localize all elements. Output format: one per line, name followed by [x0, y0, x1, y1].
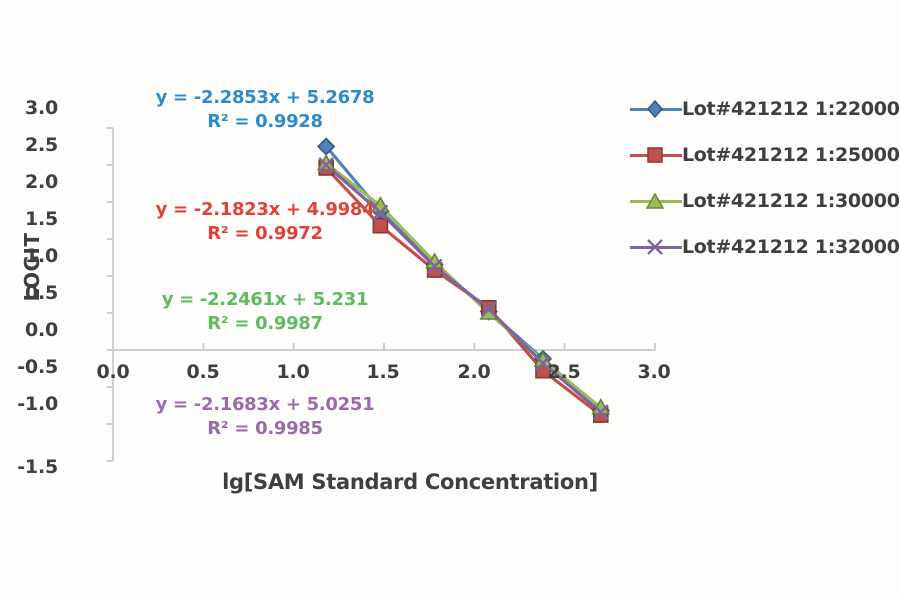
y-tick-label: -1.0 — [4, 393, 58, 415]
chart-figure: 3.0 2.5 2.0 1.5 1.0 0.5 0.0 -0.5 -1.0 -1… — [0, 0, 900, 594]
x-tick-label: 2.0 — [446, 361, 502, 383]
equation-text: y = -2.2461x + 5.231 — [162, 289, 368, 310]
equation-text: y = -2.1683x + 5.0251 — [156, 394, 375, 415]
legend-item-1[interactable]: Lot#421212 1:22000 — [630, 86, 900, 132]
square-marker-icon — [630, 144, 682, 166]
legend-item-label: Lot#421212 1:30000 — [682, 190, 900, 212]
r-squared-text: R² = 0.9985 — [150, 417, 380, 441]
legend-item-2[interactable]: Lot#421212 1:25000 — [630, 132, 900, 178]
y-axis-title: LOGIT — [20, 207, 44, 327]
x-tick-label: 1.5 — [355, 361, 411, 383]
chart-legend: Lot#421212 1:22000 Lot#421212 1:25000 Lo… — [630, 86, 900, 270]
y-tick-label: 3.0 — [4, 97, 58, 119]
x-tick-label: 0.0 — [85, 361, 141, 383]
x-tick-label: 2.5 — [536, 361, 592, 383]
legend-item-label: Lot#421212 1:32000 — [682, 236, 900, 258]
trendline-equation-3: y = -2.2461x + 5.231 R² = 0.9987 — [150, 288, 380, 337]
legend-item-label: Lot#421212 1:22000 — [682, 98, 900, 120]
equation-text: y = -2.2853x + 5.2678 — [156, 87, 375, 108]
x-tick-label: 3.0 — [626, 361, 682, 383]
equation-text: y = -2.1823x + 4.9984 — [156, 199, 375, 220]
triangle-marker-icon — [630, 190, 682, 212]
y-tick-label: -1.5 — [4, 456, 58, 478]
r-squared-text: R² = 0.9987 — [150, 312, 380, 336]
cross-marker-icon — [630, 236, 682, 258]
legend-item-4[interactable]: Lot#421212 1:32000 — [630, 224, 900, 270]
legend-item-3[interactable]: Lot#421212 1:30000 — [630, 178, 900, 224]
x-tick-label: 0.5 — [175, 361, 231, 383]
r-squared-text: R² = 0.9928 — [150, 110, 380, 134]
diamond-marker-icon — [630, 98, 682, 120]
x-tick-label: 1.0 — [265, 361, 321, 383]
x-axis-title: lg[SAM Standard Concentration] — [180, 470, 640, 494]
trendline-equation-1: y = -2.2853x + 5.2678 R² = 0.9928 — [150, 86, 380, 135]
y-tick-label: 2.5 — [4, 134, 58, 156]
trendline-equation-2: y = -2.1823x + 4.9984 R² = 0.9972 — [150, 198, 380, 247]
legend-item-label: Lot#421212 1:25000 — [682, 144, 900, 166]
r-squared-text: R² = 0.9972 — [150, 222, 380, 246]
y-tick-label: -0.5 — [4, 356, 58, 378]
y-tick-label: 2.0 — [4, 171, 58, 193]
trendline-equation-4: y = -2.1683x + 5.0251 R² = 0.9985 — [150, 393, 380, 442]
